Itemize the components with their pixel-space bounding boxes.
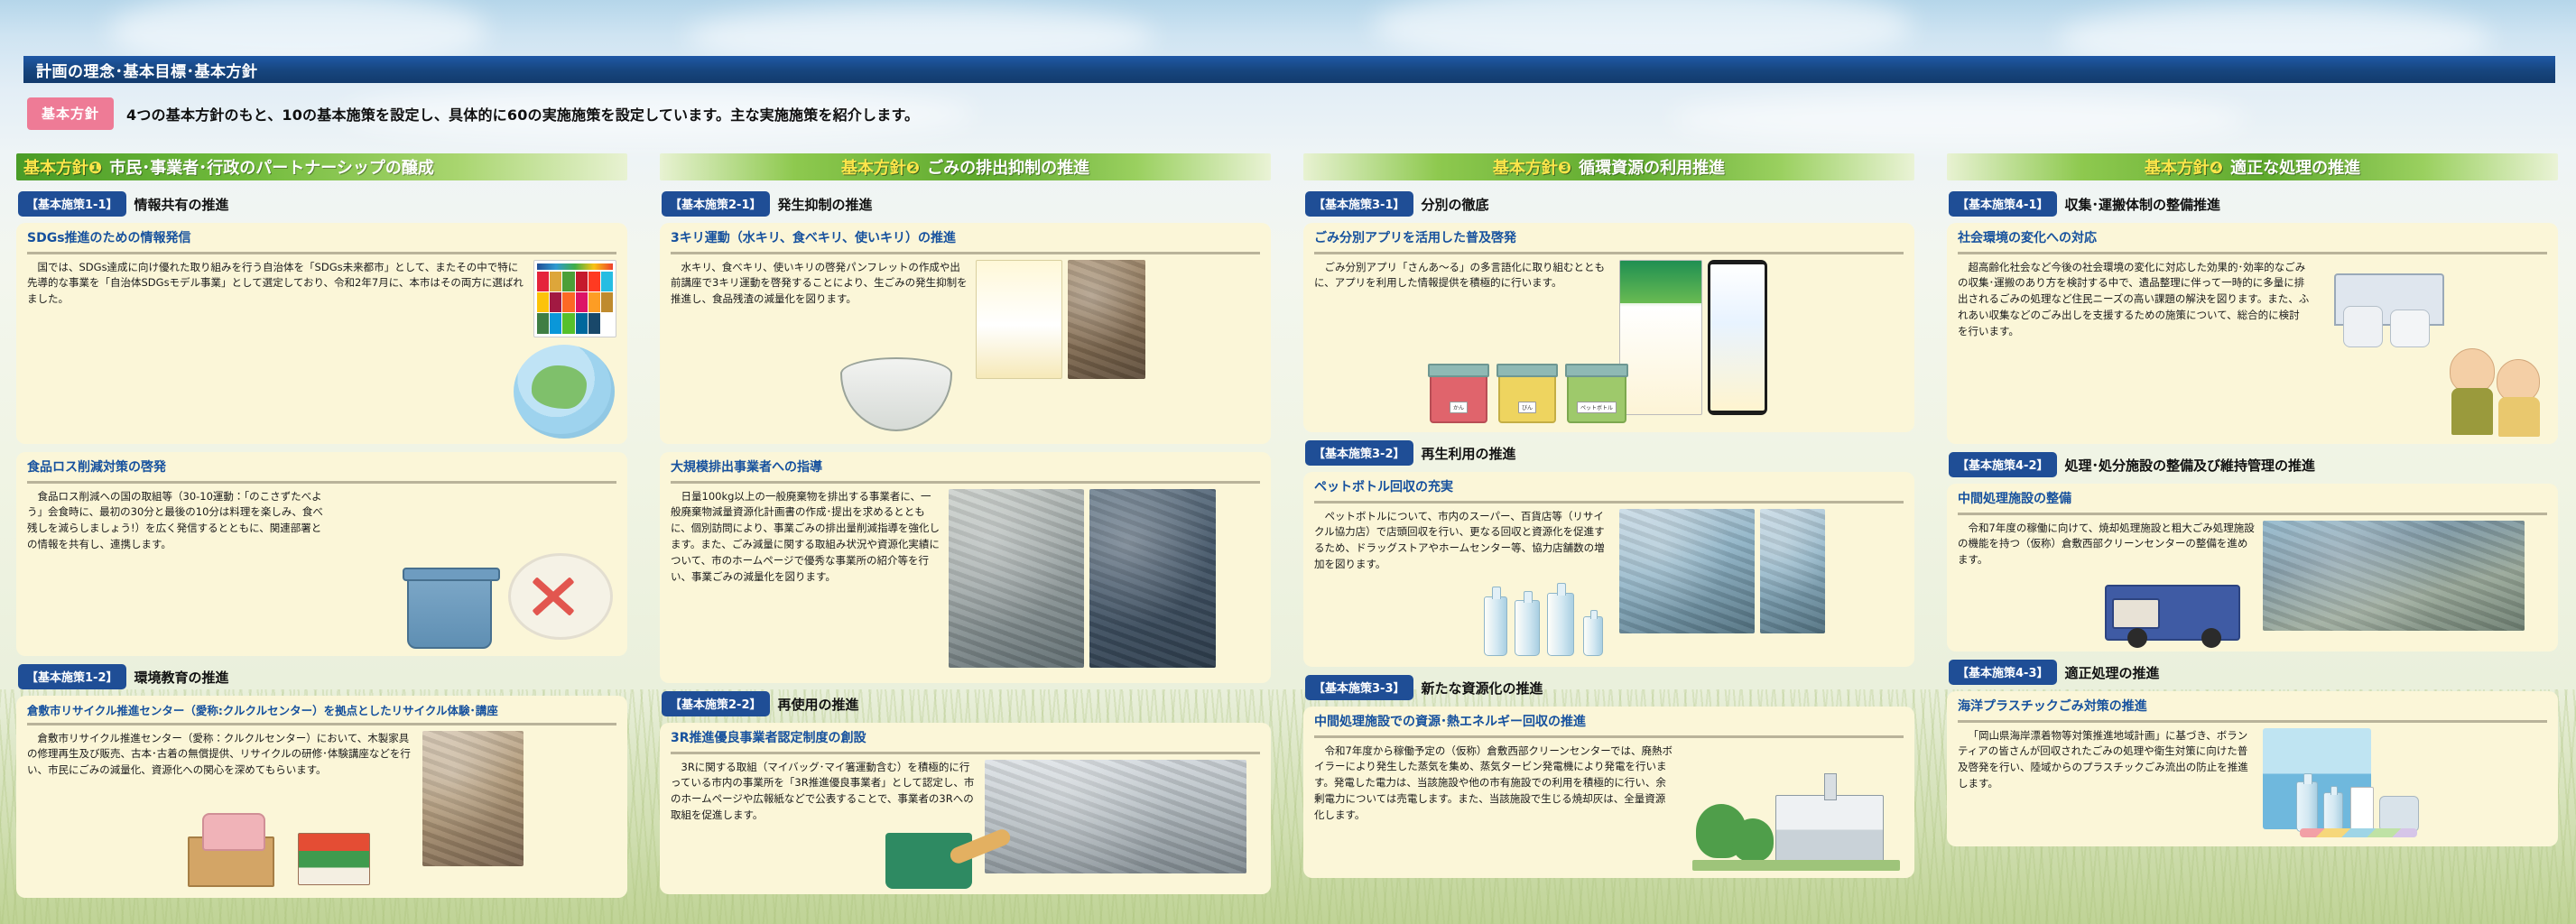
pet-bottle [1484, 596, 1507, 656]
measure-head-3-2: 【基本施策3-2】 再生利用の推進 [1305, 440, 1914, 466]
card-1-1-1: SDGs推進のための情報発信 国では、SDGs達成に向け優れた取り組みを行う自治… [16, 223, 627, 444]
measure-tag-4-2: 【基本施策4-2】 [1949, 452, 2057, 477]
card-divider [27, 481, 616, 484]
waste-pile [2300, 828, 2417, 837]
leaflet-header [1620, 261, 1701, 304]
waste-bottle [2323, 792, 2343, 832]
trash-bin-illustration [407, 573, 492, 649]
facility-building [1775, 795, 1884, 862]
mottainai-poster [976, 260, 1062, 379]
collection-bag [2343, 306, 2383, 347]
strainer-illustration [840, 357, 952, 431]
bin-label-can: かん [1450, 402, 1468, 413]
policy-description: 4つの基本方針のもと、10の基本施策を設定し、具体的に60の実施施策を設定してい… [126, 103, 919, 125]
measure-tag-4-3: 【基本施策4-3】 [1949, 660, 2057, 685]
policy-column-1: 基本方針❶ 市民･事業者･行政のパートナーシップの醸成 【基本施策1-1】 情報… [0, 153, 644, 906]
card-title-3-3-1: 中間処理施設での資源･熱エネルギー回収の推進 [1314, 715, 1904, 735]
waste-room-photo [1089, 489, 1216, 668]
elderly-couple-illustration [2450, 332, 2545, 439]
sorting-photo [1619, 509, 1755, 633]
pamphlet-photo [1068, 260, 1145, 379]
measure-tag-3-2: 【基本施策3-2】 [1305, 440, 1413, 466]
waste-bottle [2296, 781, 2318, 832]
card-1-2-1: 倉敷市リサイクル推進センター（愛称:クルクルセンター）を拠点としたリサイクル体験… [16, 696, 627, 898]
card-text-1-1-2: 食品ロス削減への国の取組等（30-10運動：「のこさずたべよう」会食時に、最初の… [27, 489, 325, 553]
card-divider [671, 752, 1260, 754]
measure-tag-2-2: 【基本施策2-2】 [662, 691, 770, 716]
measure-tag-1-1: 【基本施策1-1】 [18, 191, 126, 217]
bottle-bin: びん [1498, 369, 1556, 423]
card-title-4-1-1: 社会環境の変化への対応 [1958, 231, 2547, 252]
measure-title-4-1: 収集･運搬体制の整備推進 [2065, 195, 2221, 214]
policy-banner-2: 基本方針❷ ごみの排出抑制の推進 [660, 153, 1271, 180]
card-divider [27, 252, 616, 254]
measure-head-3-1: 【基本施策3-1】 分別の徹底 [1305, 191, 1914, 217]
card-divider [671, 481, 1260, 484]
policy-banner-number-3: 基本方針❸ [1493, 155, 1571, 179]
card-title-4-3-1: 海洋プラスチックごみ対策の推進 [1958, 699, 2547, 720]
card-title-2-2-1: 3R推進優良事業者認定制度の創設 [671, 731, 1260, 752]
pet-bottle [1583, 616, 1603, 656]
earth-illustration [514, 345, 615, 439]
workshop-photo [422, 731, 524, 866]
measure-head-4-3: 【基本施策4-3】 適正処理の推進 [1949, 660, 2558, 685]
measure-title-2-1: 発生抑制の推進 [778, 195, 873, 214]
measure-tag-4-1: 【基本施策4-1】 [1949, 191, 2057, 217]
measure-head-4-1: 【基本施策4-1】 収集･運搬体制の整備推進 [1949, 191, 2558, 217]
policy-banner-title-3: 循環資源の利用推進 [1579, 155, 1725, 179]
facility-aerial-photo [2263, 521, 2525, 631]
card-title-1-1-1: SDGs推進のための情報発信 [27, 231, 616, 252]
card-divider [671, 252, 1260, 254]
card-4-1-1: 社会環境の変化への対応 超高齢化社会など今後の社会環境の変化に対応した効果的･効… [1947, 223, 2558, 444]
smartphone-mock [1708, 260, 1767, 415]
measure-head-3-3: 【基本施策3-3】 新たな資源化の推進 [1305, 675, 1914, 700]
measure-title-1-2: 環境教育の推進 [134, 668, 229, 687]
plastic-waste-illustration [2291, 754, 2426, 837]
policy-banner-number-1: 基本方針❶ [23, 155, 102, 179]
card-1-1-2: 食品ロス削減対策の啓発 食品ロス削減への国の取組等（30-10運動：「のこさずた… [16, 452, 627, 656]
card-divider [1314, 252, 1904, 254]
measure-title-4-2: 処理･処分施設の整備及び維持管理の推進 [2065, 456, 2316, 475]
card-text-4-1-1: 超高齢化社会など今後の社会環境の変化に対応した効果的･効率的なごみの収集･運搬の… [1958, 260, 2310, 340]
bin-label-bottle: びん [1518, 402, 1536, 413]
card-text-3-3-1: 令和7年度から稼働予定の（仮称）倉敷西部クリーンセンターでは、廃熱ボイラーにより… [1314, 744, 1675, 824]
books-illustration [298, 833, 370, 885]
elderly-woman-face [2497, 359, 2540, 402]
measure-title-4-3: 適正処理の推進 [2065, 663, 2160, 682]
measure-tag-1-2: 【基本施策1-2】 [18, 664, 126, 689]
truck-wheel [2127, 628, 2147, 648]
measure-tag-2-1: 【基本施策2-1】 [662, 191, 770, 217]
policy-banner-title-4: 適正な処理の推進 [2230, 155, 2360, 179]
policy-column-4: 基本方針❹ 適正な処理の推進 【基本施策4-1】 収集･運搬体制の整備推進 社会… [1931, 153, 2574, 906]
waste-carton [2350, 787, 2374, 832]
card-divider [1314, 735, 1904, 738]
policy-banner-4: 基本方針❹ 適正な処理の推進 [1947, 153, 2558, 180]
card-2-2-1: 3R推進優良事業者認定制度の創設 3Rに関する取組（マイバッグ･マイ箸運動含む）… [660, 723, 1271, 894]
ground-line [1692, 860, 1900, 871]
card-divider [27, 723, 616, 725]
app-leaflet [1619, 260, 1702, 415]
elderly-woman-body [2498, 397, 2540, 437]
recycle-bins-illustration: かん びん ペットボトル [1430, 349, 1628, 423]
card-title-3-1-1: ごみ分別アプリを活用した普及啓発 [1314, 231, 1904, 252]
policy-intro-row: 基本方針 4つの基本方針のもと、10の基本施策を設定し、具体的に60の実施施策を… [27, 97, 919, 130]
card-3-1-1: ごみ分別アプリを活用した普及啓発 ごみ分別アプリ「さんあ～る」の多言語化に取り組… [1303, 223, 1914, 432]
measure-title-3-3: 新たな資源化の推進 [1422, 679, 1543, 698]
card-2-1-2: 大規模排出事業者への指導 日量100kg以上の一般廃棄物を排出する事業者に、一般… [660, 452, 1271, 683]
elderly-man-body [2451, 388, 2493, 435]
collection-point-illustration [2334, 273, 2444, 360]
bales-photo [1760, 509, 1825, 633]
card-title-2-1-1: 3キリ運動（水キリ、食べキリ、使いキリ）の推進 [671, 231, 1260, 252]
policy-column-3: 基本方針❸ 循環資源の利用推進 【基本施策3-1】 分別の徹底 ごみ分別アプリを… [1287, 153, 1931, 906]
page-title: 計画の理念･基本目標･基本方針 [36, 59, 258, 81]
policy-banner-number-4: 基本方針❹ [2145, 155, 2223, 179]
card-title-2-1-2: 大規模排出事業者への指導 [671, 460, 1260, 481]
measure-head-2-2: 【基本施策2-2】 再使用の推進 [662, 691, 1271, 716]
card-4-2-1: 中間処理施設の整備 令和7年度の稼働に向けて、焼却処理施設と粗大ごみ処理施設の機… [1947, 484, 2558, 651]
sdgs-grid [537, 272, 613, 334]
sdgs-poster [533, 260, 616, 337]
pet-bottle [1515, 600, 1540, 656]
card-divider [1958, 720, 2547, 723]
cloud-decoration [1670, 94, 2247, 144]
card-3-3-1: 中間処理施設での資源･熱エネルギー回収の推進 令和7年度から稼働予定の（仮称）倉… [1303, 707, 1914, 878]
elderly-man-face [2450, 348, 2495, 393]
collection-bag [2390, 310, 2430, 347]
card-title-4-2-1: 中間処理施設の整備 [1958, 492, 2547, 513]
card-divider [1314, 501, 1904, 504]
pet-bottle [1547, 593, 1574, 656]
card-text-1-1-1: 国では、SDGs達成に向け優れた取り組みを行う自治体を「SDGs未来都市」として… [27, 260, 526, 337]
policy-banner-3: 基本方針❸ 循環資源の利用推進 [1303, 153, 1914, 180]
measure-tag-3-1: 【基本施策3-1】 [1305, 191, 1413, 217]
policy-column-2: 基本方針❷ ごみの排出抑制の推進 【基本施策2-1】 発生抑制の推進 3キリ運動… [644, 153, 1287, 906]
truck-wheel [2201, 628, 2221, 648]
bin-label-pet: ペットボトル [1577, 402, 1617, 413]
pet-bin: ペットボトル [1567, 369, 1626, 423]
policy-banner-title-2: ごみの排出抑制の推進 [927, 155, 1089, 179]
policy-badge: 基本方針 [27, 97, 114, 130]
measure-head-1-2: 【基本施策1-2】 環境教育の推進 [18, 664, 627, 689]
bin-lid [1496, 364, 1557, 377]
page-title-bar: 計画の理念･基本目標･基本方針 [23, 56, 2555, 83]
policy-banner-title-1: 市民･事業者･行政のパートナーシップの醸成 [109, 155, 434, 179]
card-2-1-1: 3キリ運動（水キリ、食べキリ、使いキリ）の推進 水キリ、食べキリ、使いキリの啓発… [660, 223, 1271, 444]
sdgs-band [537, 263, 613, 270]
card-title-3-2-1: ペットボトル回収の充実 [1314, 480, 1904, 501]
policy-banner-number-2: 基本方針❷ [841, 155, 920, 179]
card-text-2-1-2: 日量100kg以上の一般廃棄物を排出する事業者に、一般廃棄物減量資源化計画書の作… [671, 489, 941, 668]
card-divider [1958, 513, 2547, 515]
can-bin: かん [1430, 369, 1487, 423]
plant-illustration [1692, 770, 1900, 871]
waste-bag [2379, 796, 2419, 832]
card-divider [1958, 252, 2547, 254]
measure-title-2-2: 再使用の推進 [778, 695, 859, 714]
card-4-3-1: 海洋プラスチックごみ対策の推進 「岡山県海岸漂着物等対策推進地域計画」に基づき、… [1947, 691, 2558, 846]
bin-lid [1565, 364, 1627, 377]
measure-title-1-1: 情報共有の推進 [134, 195, 229, 214]
card-text-4-3-1: 「岡山県海岸漂着物等対策推進地域計画」に基づき、ボランティアの皆さんが回収された… [1958, 728, 2256, 829]
bin-lid [1428, 364, 1488, 377]
measure-title-3-1: 分別の徹底 [1422, 195, 1489, 214]
sweater-illustration [202, 813, 265, 851]
card-3-2-1: ペットボトル回収の充実 ペットボトルについて、市内のスーパー、百貨店等（リサイク… [1303, 472, 1914, 667]
policy-banner-1: 基本方針❶ 市民･事業者･行政のパートナーシップの醸成 [16, 153, 627, 180]
chimney-illustration [1824, 773, 1837, 800]
card-title-1-2-1: 倉敷市リサイクル推進センター（愛称:クルクルセンター）を拠点としたリサイクル体験… [27, 704, 616, 723]
measure-head-4-2: 【基本施策4-2】 処理･処分施設の整備及び維持管理の推進 [1949, 452, 2558, 477]
no-waste-illustration [508, 553, 613, 640]
measure-tag-3-3: 【基本施策3-3】 [1305, 675, 1413, 700]
measure-head-2-1: 【基本施策2-1】 発生抑制の推進 [662, 191, 1271, 217]
phone-screen [1710, 264, 1765, 411]
measure-title-3-2: 再生利用の推進 [1422, 444, 1516, 463]
ceremony-photo [985, 760, 1246, 873]
card-title-1-1-2: 食品ロス削減対策の啓発 [27, 460, 616, 481]
measure-head-1-1: 【基本施策1-1】 情報共有の推進 [18, 191, 627, 217]
policy-columns: 基本方針❶ 市民･事業者･行政のパートナーシップの醸成 【基本施策1-1】 情報… [0, 153, 2576, 906]
inspection-photo [949, 489, 1084, 668]
pet-bottles-illustration [1484, 586, 1619, 656]
tree-illustration [1732, 818, 1774, 862]
